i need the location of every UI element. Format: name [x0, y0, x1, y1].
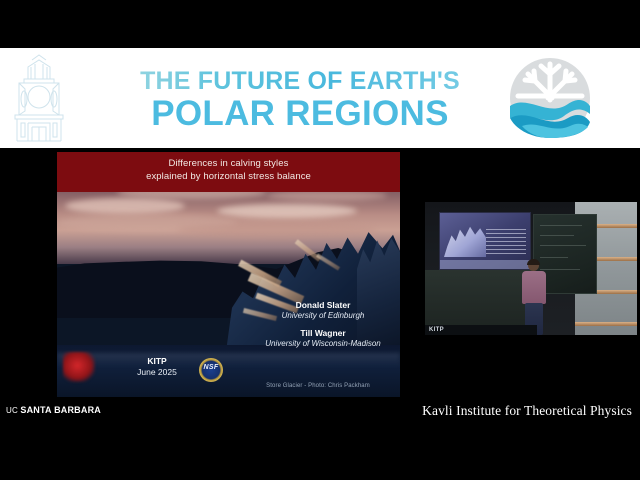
presentation-slide: Differences in calving styles explained …	[57, 152, 400, 397]
projection-screen	[439, 212, 531, 270]
red-light-flare	[63, 352, 95, 382]
slide-title-line2: explained by horizontal stress balance	[57, 170, 400, 183]
chalk-writing	[540, 257, 568, 258]
author-name: Donald Slater	[253, 300, 393, 311]
slide-venue: KITP	[119, 356, 195, 367]
speaker-torso	[522, 271, 546, 304]
chalk-writing	[540, 245, 586, 246]
ucsb-wordmark: UC SANTA BARBARA	[6, 405, 101, 415]
chalk-writing	[540, 235, 574, 236]
author-affiliation: University of Wisconsin-Madison	[253, 339, 393, 350]
slide-title-band: Differences in calving styles explained …	[57, 152, 400, 192]
cloud	[217, 204, 357, 218]
cloud	[65, 198, 185, 214]
cloud	[177, 222, 377, 238]
banner-title: THE FUTURE OF EARTH'S POLAR REGIONS	[100, 58, 500, 143]
speaker-figure	[521, 260, 547, 335]
speaker-camera-panel: KITP	[425, 202, 637, 335]
chalk-writing	[540, 225, 582, 226]
projected-author-text	[486, 229, 526, 255]
projected-glacier-image	[444, 221, 486, 257]
ucsb-storke-tower-icon	[8, 53, 70, 143]
nsf-label: NSF	[199, 364, 223, 371]
slide-author-block: Donald Slater University of Edinburgh Ti…	[253, 300, 393, 349]
camera-watermark: KITP	[429, 327, 444, 333]
photo-credit: Store Glacier - Photo: Chris Packham	[242, 383, 394, 389]
author-name: Till Wagner	[253, 328, 393, 339]
water-shimmer	[57, 353, 400, 367]
kitp-snowflake-wave-icon	[508, 56, 592, 140]
speaker-hair	[527, 259, 540, 265]
slide-title-line1: Differences in calving styles	[57, 157, 400, 170]
author-affiliation: University of Edinburgh	[253, 311, 393, 322]
slide-venue-block: KITP June 2025	[119, 356, 195, 378]
projected-water-band	[440, 260, 530, 269]
ucsb-name: SANTA BARBARA	[20, 405, 101, 415]
lower-blackboard	[425, 270, 535, 326]
kitp-wordmark: Kavli Institute for Theoretical Physics	[422, 403, 632, 419]
ucsb-prefix: UC	[6, 406, 20, 415]
banner-title-line1: THE FUTURE OF EARTH'S	[140, 69, 460, 95]
chalk-rail	[575, 322, 637, 326]
slide-date: June 2025	[119, 367, 195, 378]
banner-title-line2: POLAR REGIONS	[151, 96, 449, 132]
nsf-logo-icon: NSF	[199, 358, 223, 382]
video-frame: THE FUTURE OF EARTH'S POLAR REGIONS	[0, 0, 640, 480]
event-banner: THE FUTURE OF EARTH'S POLAR REGIONS	[0, 48, 640, 148]
